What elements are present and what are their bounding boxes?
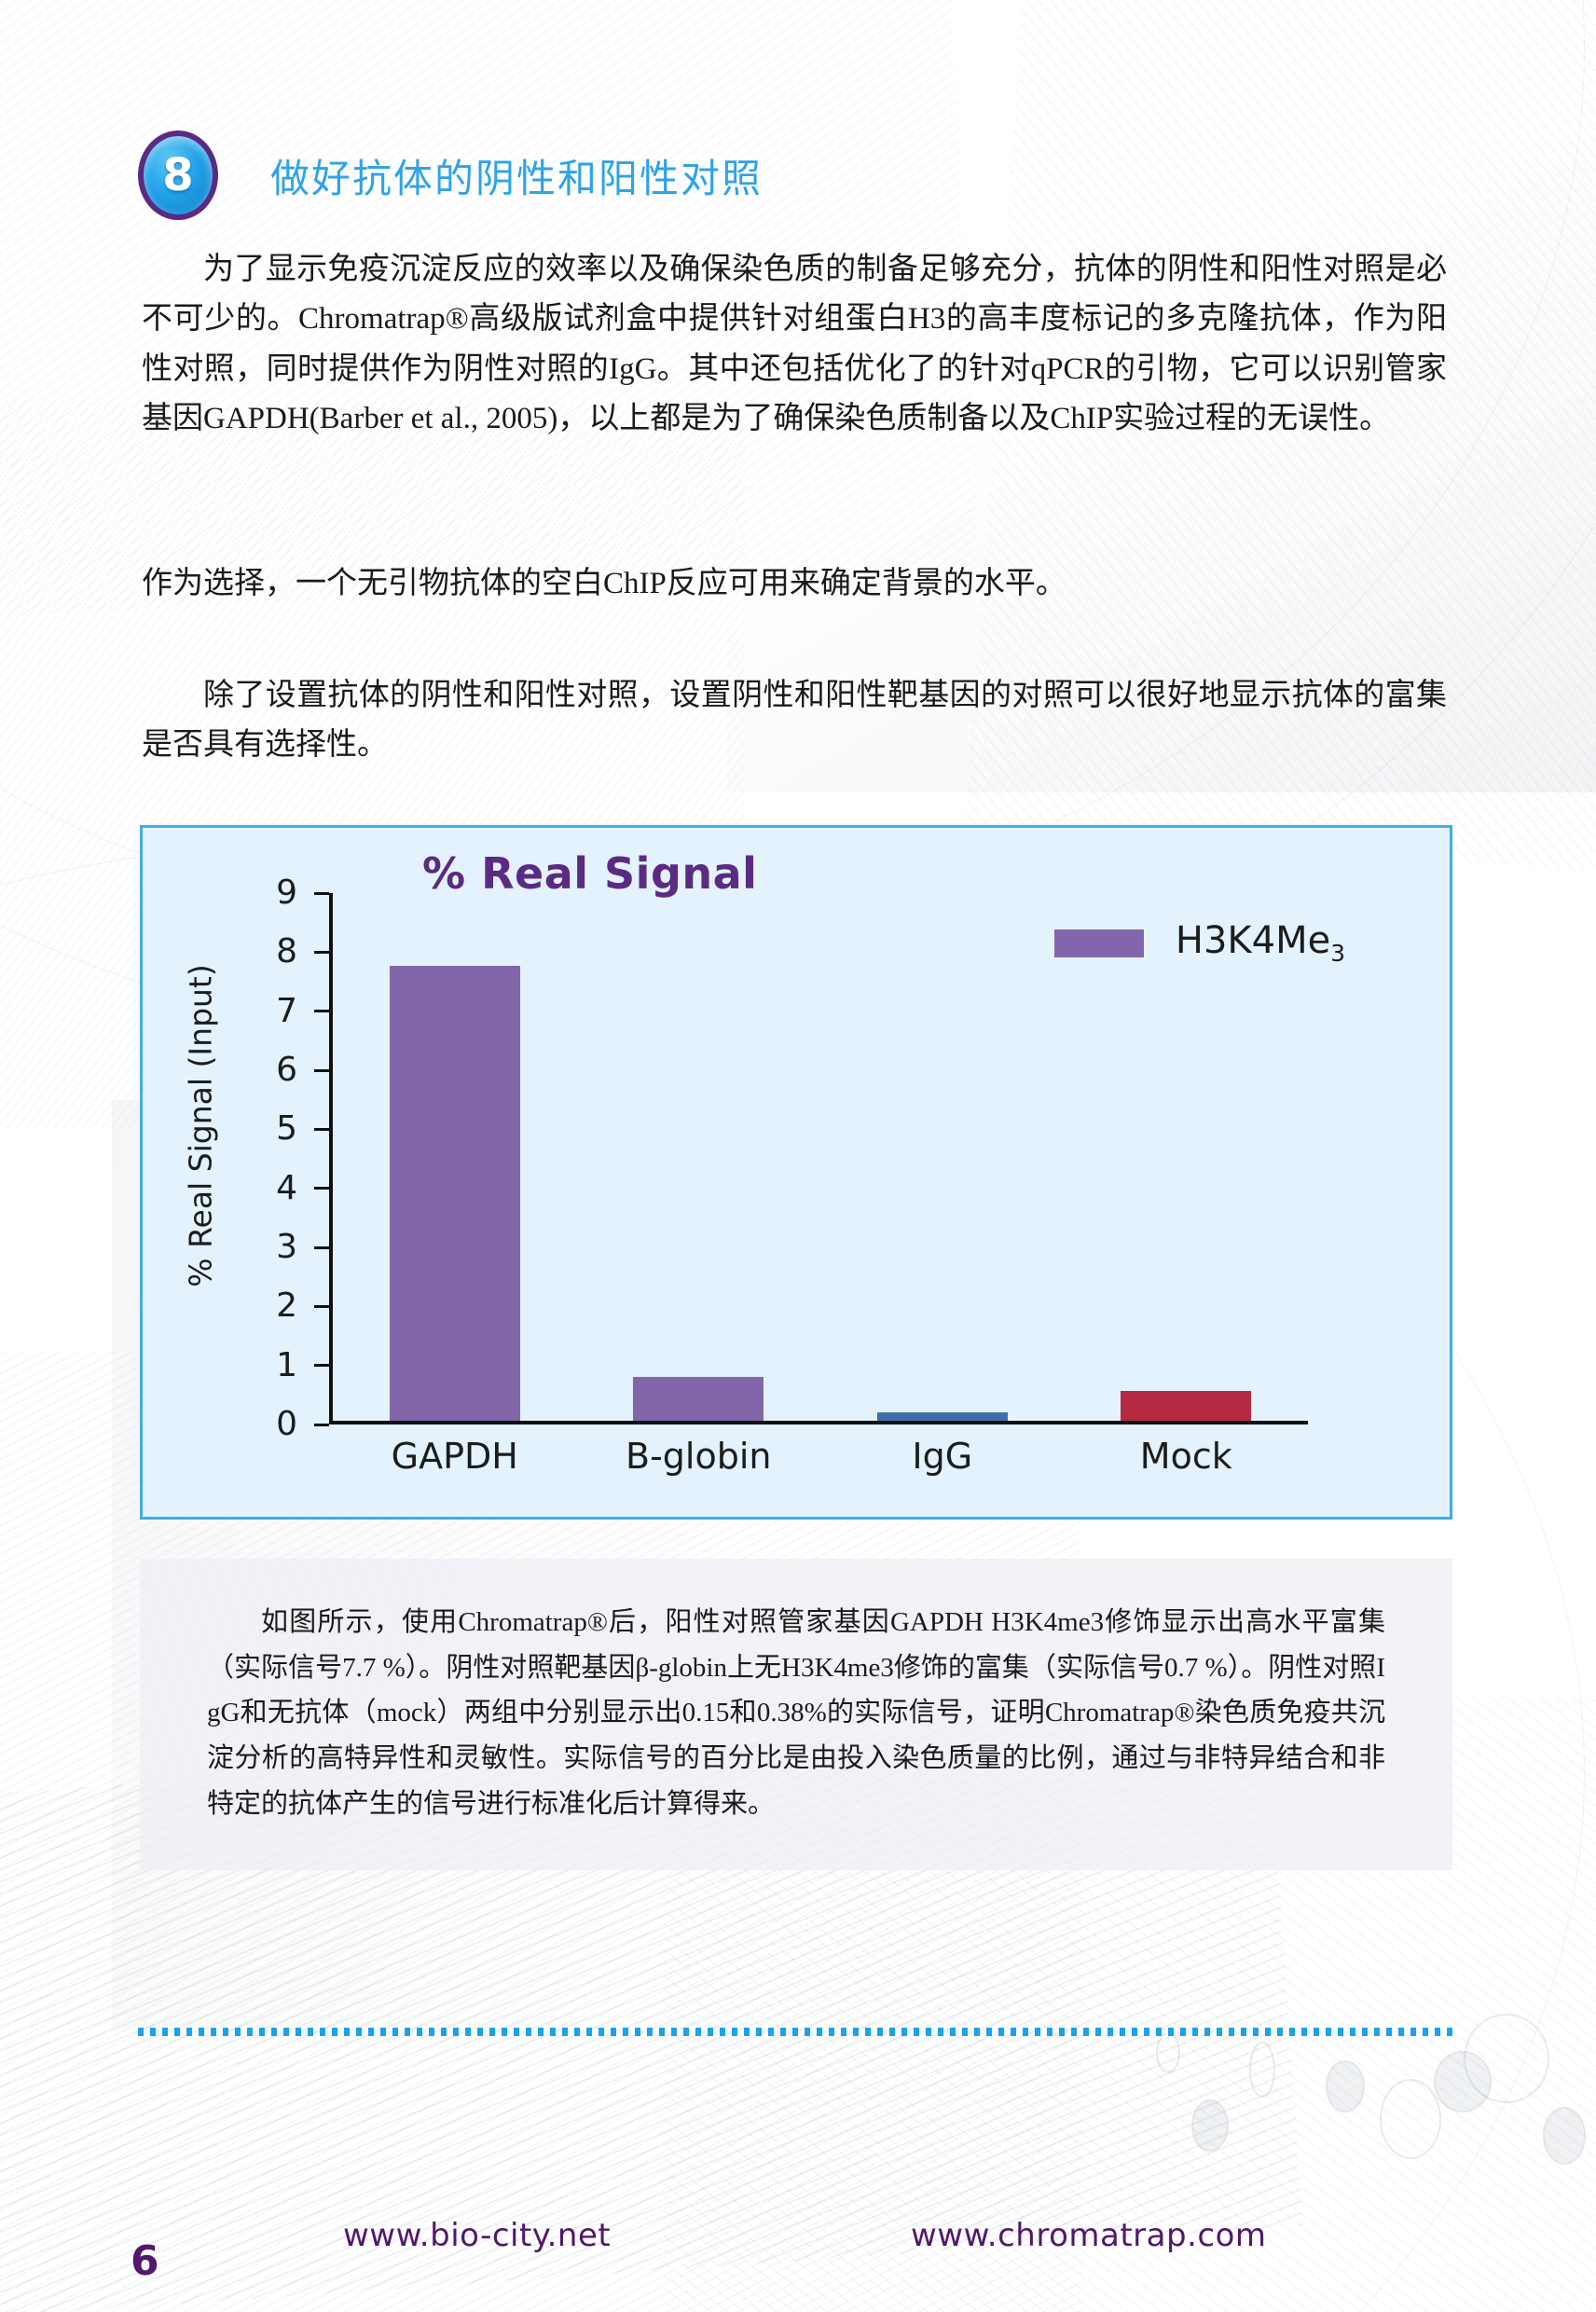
chart-y-tick-label: 8 xyxy=(276,935,297,969)
chart-y-tick-label: 5 xyxy=(276,1112,297,1146)
chart-bar xyxy=(390,966,520,1421)
chart-y-tick-mark xyxy=(314,1128,329,1131)
bubble-small-filled xyxy=(1434,2051,1492,2112)
chart-y-tick-label: 4 xyxy=(276,1172,297,1205)
bubble-tiny-filled xyxy=(1326,2060,1365,2112)
chart-y-tick-label: 9 xyxy=(276,876,297,910)
legend-label-sub: 3 xyxy=(1330,940,1345,967)
footer: www.bio-city.net www.chromatrap.com xyxy=(0,2217,1596,2262)
chart-x-label: Mock xyxy=(1065,1436,1309,1477)
footer-link-chromatrap[interactable]: www.chromatrap.com xyxy=(911,2217,1267,2254)
chart-y-tick-mark xyxy=(314,892,329,895)
figure-caption-box: 如图所示，使用Chromatrap®后，阳性对照管家基因GAPDH H3K4me… xyxy=(140,1559,1452,1870)
chart-bar-slot xyxy=(1065,893,1309,1421)
chart-y-tick-label: 6 xyxy=(276,1053,297,1087)
figure-caption-text: 如图所示，使用Chromatrap®后，阳性对照管家基因GAPDH H3K4me… xyxy=(207,1600,1385,1827)
body-paragraph-3: 除了设置抗体的阴性和阳性对照，设置阴性和阳性靶基因的对照可以很好地显示抗体的富集… xyxy=(142,671,1447,771)
bubble-faint-outline xyxy=(1156,2032,1180,2073)
chart-title: % Real Signal xyxy=(422,848,757,899)
chart-bar xyxy=(877,1412,1008,1422)
chart-y-tick-mark xyxy=(314,1069,329,1072)
chart-bar xyxy=(1121,1391,1251,1421)
chart-x-label: IgG xyxy=(820,1436,1065,1477)
chart-bar xyxy=(633,1377,764,1422)
chart-y-tick-label: 1 xyxy=(276,1349,297,1383)
body-paragraph-1: 为了显示免疫沉淀反应的效率以及确保染色质的制备足够充分，抗体的阴性和阳性对照是必… xyxy=(142,245,1447,445)
chart-y-tick-mark xyxy=(314,1364,329,1367)
chart-x-label: B-globin xyxy=(577,1436,821,1477)
chart-y-tick-label: 2 xyxy=(276,1289,297,1323)
page-number: 6 xyxy=(131,2237,159,2285)
chart-y-tick-mark xyxy=(314,1424,329,1426)
body-paragraph-2: 作为选择，一个无引物抗体的空白ChIP反应可用来确定背景的水平。 xyxy=(142,559,1447,609)
chart-x-axis-line xyxy=(329,1421,1308,1424)
bubble-oval-filled xyxy=(1191,2099,1229,2152)
chart-y-tick-label: 7 xyxy=(276,995,297,1028)
chart-y-tick-mark xyxy=(314,951,329,954)
chart-bars xyxy=(333,893,1308,1421)
chart-y-tick-mark xyxy=(314,1010,329,1012)
chart-x-axis-labels: GAPDHB-globinIgGMock xyxy=(333,1436,1308,1477)
chart-y-tick-label: 3 xyxy=(276,1231,297,1264)
chart-plot-area: 0123456789 GAPDHB-globinIgGMock xyxy=(329,893,1308,1424)
chart-y-tick-mark xyxy=(314,1305,329,1308)
chart-y-tick-mark xyxy=(314,1246,329,1249)
page-title: 做好抗体的阴性和阳性对照 xyxy=(270,147,763,204)
bubble-thin-outline xyxy=(1249,2042,1275,2098)
chart-y-tick-mark xyxy=(314,1187,329,1190)
chart-bar-slot xyxy=(820,893,1065,1421)
bubble-right-edge-filled xyxy=(1543,2107,1586,2165)
footer-link-bio-city[interactable]: www.bio-city.net xyxy=(343,2217,611,2254)
bubble-large-outline xyxy=(1464,2014,1549,2103)
section-number-text: 8 xyxy=(162,153,193,198)
chart-y-axis-label: % Real Signal (Input) xyxy=(183,912,219,1341)
chart-y-tick-label: 0 xyxy=(276,1408,297,1441)
footer-divider xyxy=(138,2028,1454,2036)
chart-x-label: GAPDH xyxy=(333,1436,577,1477)
section-header: 8 做好抗体的阴性和阳性对照 xyxy=(138,131,763,220)
chart-bar-slot xyxy=(333,893,577,1421)
section-number-badge: 8 xyxy=(138,131,218,220)
bubble-medium-outline xyxy=(1380,2079,1441,2159)
chart-bar-slot xyxy=(577,893,821,1421)
chart-panel: % Real Signal % Real Signal (Input) H3K4… xyxy=(140,825,1452,1520)
